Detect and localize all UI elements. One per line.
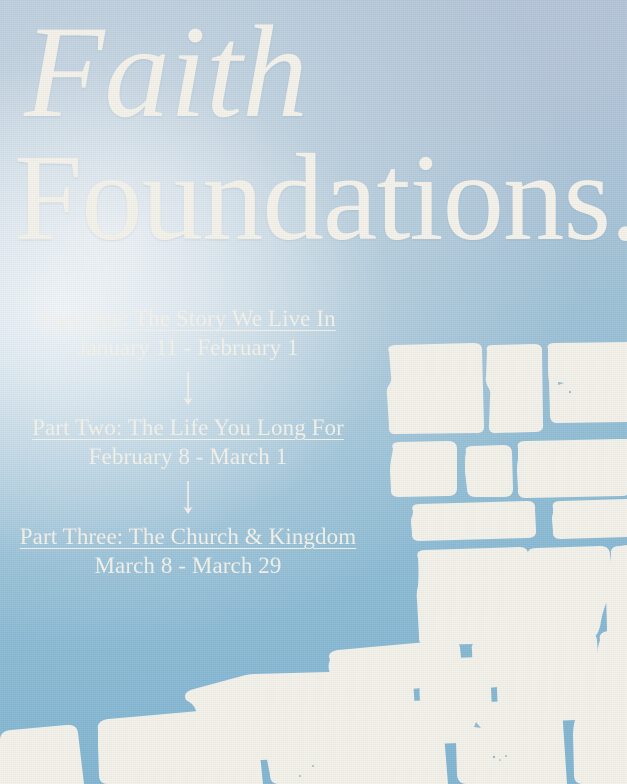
part-two-dates: February 8 - March 1	[0, 442, 376, 472]
schedule-part-one: Part One: The Story We Live In January 1…	[0, 305, 376, 363]
poster-canvas: Faith Foundations. Part One: The Story W…	[0, 0, 627, 784]
part-three-dates: March 8 - March 29	[0, 551, 376, 581]
schedule-part-two: Part Two: The Life You Long For February…	[0, 414, 376, 472]
part-one-title: Part One: The Story We Live In	[0, 305, 376, 332]
part-three-title: Part Three: The Church & Kingdom	[0, 523, 376, 550]
schedule-part-three: Part Three: The Church & Kingdom March 8…	[0, 523, 376, 581]
part-two-title: Part Two: The Life You Long For	[0, 414, 376, 441]
down-arrow-icon-2	[181, 481, 195, 515]
title-line-foundations: Foundations.	[14, 136, 627, 260]
down-arrow-icon-1	[181, 372, 195, 406]
part-one-dates: January 11 - February 1	[0, 333, 376, 363]
title-line-faith: Faith	[24, 6, 307, 138]
series-schedule-list: Part One: The Story We Live In January 1…	[0, 305, 376, 581]
